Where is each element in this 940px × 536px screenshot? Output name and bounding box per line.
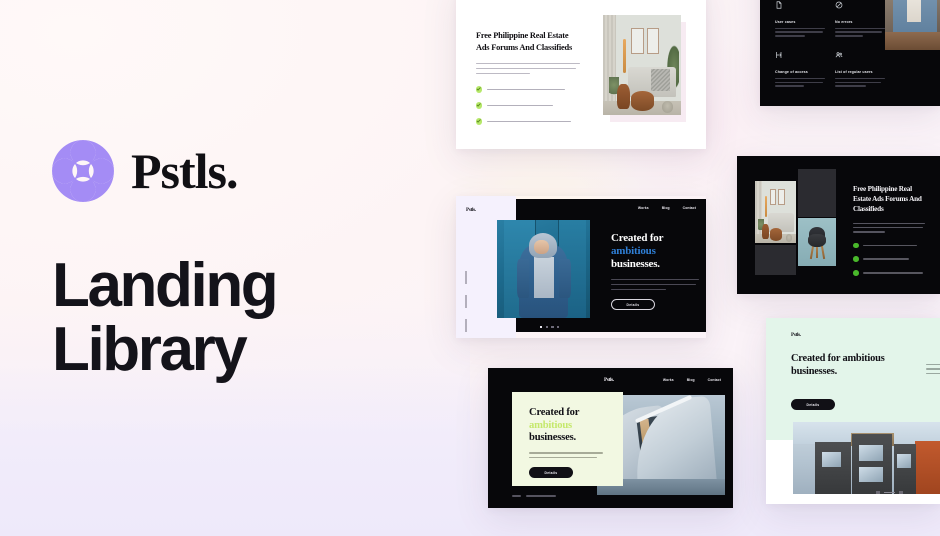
carousel-dot[interactable] bbox=[540, 326, 542, 328]
nav-link-works[interactable]: Works bbox=[663, 378, 674, 382]
m2-carousel-dots[interactable] bbox=[540, 326, 559, 328]
m2-model-photo bbox=[497, 220, 590, 318]
m3-nav[interactable]: Works Blog Contact bbox=[663, 378, 721, 382]
carousel-dot[interactable] bbox=[546, 326, 548, 328]
nav-link-works[interactable]: Works bbox=[638, 206, 649, 210]
mockup-feature-grid-dark[interactable]: User cases No errors Change of access bbox=[760, 0, 940, 106]
next-button[interactable] bbox=[899, 491, 903, 494]
feature-cell[interactable]: List of regular users bbox=[835, 51, 885, 89]
m6-carousel-controls[interactable] bbox=[876, 491, 903, 494]
mockup-dark-hero-model[interactable]: Pstls. Works Blog Contact Created for am… bbox=[456, 196, 706, 338]
brand-wordmark: Pstls. bbox=[131, 146, 238, 196]
check-circle-icon bbox=[476, 86, 482, 92]
users-icon bbox=[835, 51, 843, 59]
nav-link-contact[interactable]: Contact bbox=[708, 378, 721, 382]
mockup-mint-architecture[interactable]: Pstls. Created for ambitious businesses.… bbox=[766, 318, 940, 504]
list-item bbox=[476, 102, 580, 108]
progress-bar bbox=[884, 492, 895, 493]
m2-nav[interactable]: Works Blog Contact bbox=[638, 206, 696, 210]
m3-heading-accent: ambitious bbox=[529, 420, 623, 433]
m6-side-text bbox=[926, 364, 940, 377]
m4-woman-photo bbox=[885, 0, 940, 50]
feature-title: List of regular users bbox=[835, 70, 885, 74]
m2-logo[interactable]: Pstls. bbox=[466, 207, 476, 213]
m2-heading-line-1: Created for bbox=[611, 232, 699, 245]
m3-footer bbox=[512, 495, 556, 497]
m5-tile-chair bbox=[798, 218, 836, 266]
m6-logo[interactable]: Pstls. bbox=[791, 332, 801, 338]
prev-button[interactable] bbox=[876, 491, 880, 494]
mockup-real-estate-dark[interactable]: Free Philippine Real Estate Ads Forums A… bbox=[737, 156, 940, 294]
feature-cell[interactable]: User cases bbox=[775, 1, 825, 39]
list-item bbox=[476, 86, 580, 92]
m3-heading-line-1: Created for bbox=[529, 407, 623, 420]
m1-body-text bbox=[476, 63, 580, 75]
m1-living-room-photo bbox=[603, 15, 681, 115]
check-circle-icon bbox=[853, 243, 859, 249]
m3-heading-line-2: businesses. bbox=[529, 432, 623, 445]
list-item bbox=[476, 118, 580, 124]
list-item bbox=[853, 243, 925, 249]
check-circle-icon bbox=[476, 118, 482, 124]
m1-bullet-list bbox=[476, 86, 580, 124]
m1-copy: Free Philippine Real Estate Ads Forums A… bbox=[476, 30, 580, 134]
list-item bbox=[853, 256, 925, 262]
m1-heading: Free Philippine Real Estate Ads Forums A… bbox=[476, 30, 580, 54]
no-errors-icon bbox=[835, 1, 843, 9]
m6-heading: Created for ambitious businesses. bbox=[791, 352, 913, 378]
m2-body-text bbox=[611, 279, 699, 291]
m4-feature-grid: User cases No errors Change of access bbox=[775, 1, 885, 89]
access-icon bbox=[775, 51, 783, 59]
m2-heading-line-2: businesses. bbox=[611, 258, 699, 271]
carousel-dot[interactable] bbox=[551, 326, 553, 328]
social-label-instagram[interactable] bbox=[465, 271, 467, 284]
pstls-rosette-logo-icon bbox=[52, 140, 114, 202]
m5-bullet-list bbox=[853, 243, 925, 276]
nav-link-blog[interactable]: Blog bbox=[687, 378, 695, 382]
feature-cell[interactable]: Change of access bbox=[775, 51, 825, 89]
nav-link-blog[interactable]: Blog bbox=[662, 206, 670, 210]
m3-body-text bbox=[529, 452, 603, 458]
check-circle-icon bbox=[476, 102, 482, 108]
m5-copy: Free Philippine Real Estate Ads Forums A… bbox=[853, 184, 925, 284]
feature-cell[interactable]: No errors bbox=[835, 1, 885, 39]
m2-heading-accent: ambitious bbox=[611, 245, 699, 258]
brand-lockup: Pstls. bbox=[52, 140, 412, 202]
document-icon bbox=[775, 1, 783, 9]
feature-title: Change of access bbox=[775, 70, 825, 74]
social-label-twitter[interactable] bbox=[465, 319, 467, 332]
screenshot-stage: Pstls. Landing Library Free Philippine R… bbox=[0, 0, 940, 536]
m2-social-rail[interactable] bbox=[465, 271, 467, 338]
m3-details-button[interactable]: Details bbox=[529, 467, 573, 478]
m5-tile-living-room bbox=[755, 181, 796, 243]
m2-heading: Created for ambitious businesses. bbox=[611, 232, 699, 272]
m5-heading: Free Philippine Real Estate Ads Forums A… bbox=[853, 184, 925, 215]
page-title: Landing Library bbox=[52, 254, 412, 382]
m3-copy-card: Created for ambitious businesses. Detail… bbox=[512, 392, 623, 486]
check-circle-icon bbox=[853, 270, 859, 276]
mockup-dark-hero-opera[interactable]: Pstls. Works Blog Contact Created for am… bbox=[488, 368, 733, 508]
feature-title: User cases bbox=[775, 20, 825, 24]
carousel-dot[interactable] bbox=[557, 326, 559, 328]
m6-details-button[interactable]: Details bbox=[791, 399, 835, 410]
page-title-line-1: Landing bbox=[52, 254, 412, 318]
mockup-real-estate-light[interactable]: Free Philippine Real Estate Ads Forums A… bbox=[456, 0, 706, 149]
m3-heading: Created for ambitious businesses. bbox=[529, 407, 623, 445]
m2-copy: Created for ambitious businesses. Detail… bbox=[611, 232, 699, 310]
m5-tile-dark-2 bbox=[755, 245, 796, 275]
list-item bbox=[853, 270, 925, 276]
check-circle-icon bbox=[853, 256, 859, 262]
brand-panel: Pstls. Landing Library bbox=[52, 140, 412, 382]
m5-body-text bbox=[853, 223, 925, 233]
social-label-facebook[interactable] bbox=[465, 295, 467, 308]
feature-title: No errors bbox=[835, 20, 885, 24]
m2-details-button[interactable]: Details bbox=[611, 299, 655, 310]
page-title-line-2: Library bbox=[52, 318, 412, 382]
m3-logo[interactable]: Pstls. bbox=[604, 377, 614, 383]
nav-link-contact[interactable]: Contact bbox=[683, 206, 696, 210]
m5-tile-dark-1 bbox=[798, 169, 836, 217]
m6-apartment-photo bbox=[793, 422, 940, 494]
